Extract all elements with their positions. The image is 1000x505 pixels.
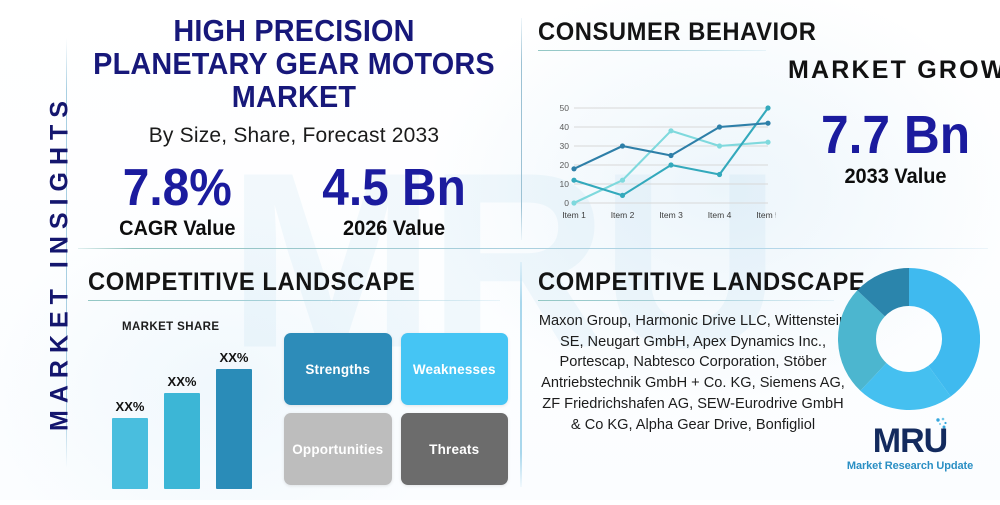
logo-dots-icon xyxy=(933,417,949,435)
kpi-2026-label: 2026 Value xyxy=(319,217,467,241)
divider-vertical-top xyxy=(521,18,522,240)
page-title: HIGH PRECISION PLANETARY GEAR MOTORS MAR… xyxy=(93,14,495,113)
svg-text:0: 0 xyxy=(564,198,569,208)
mru-logo-text: MRU xyxy=(873,424,947,458)
bar-item: XX% xyxy=(112,418,148,490)
market-insights-label: MARKET INSIGHTS xyxy=(46,58,75,468)
svg-text:Item 4: Item 4 xyxy=(708,210,732,220)
infographic-page: MRU MARKET INSIGHTS HIGH PRECISION PLANE… xyxy=(0,0,1000,500)
donut-segment xyxy=(857,303,873,377)
donut-segment xyxy=(909,287,961,381)
mru-logo-tagline: Market Research Update xyxy=(846,460,974,472)
svg-text:20: 20 xyxy=(560,160,570,170)
consumer-behavior-heading: CONSUMER BEHAVIOR xyxy=(538,18,967,47)
competitive-landscape-left-section: COMPETITIVE LANDSCAPE MARKET SHARE XX%XX… xyxy=(88,268,508,505)
kpi-2033-value: 7.7 Bn xyxy=(801,108,990,162)
line-chart-svg: 01020304050Item 1Item 2Item 3Item 4Item … xyxy=(548,100,776,225)
market-share-donut-chart xyxy=(838,268,980,415)
svg-text:30: 30 xyxy=(560,141,570,151)
swot-grid: StrengthsWeaknessesOpportunitiesThreats xyxy=(284,333,508,485)
svg-text:10: 10 xyxy=(560,179,570,189)
kpi-2026: 4.5 Bn 2026 Value xyxy=(316,162,472,241)
divider-vertical-bottom xyxy=(520,262,522,487)
bar-value-label: XX% xyxy=(168,374,197,389)
donut-chart-svg xyxy=(838,268,980,410)
swot-card-strengths[interactable]: Strengths xyxy=(284,333,392,405)
bar-item: XX% xyxy=(164,393,200,489)
company-list: Maxon Group, Harmonic Drive LLC, Wittens… xyxy=(538,311,848,435)
competitive-left-body: MARKET SHARE XX%XX%XX% StrengthsWeakness… xyxy=(88,315,508,505)
kpi-2033: 7.7 Bn 2033 Value xyxy=(793,108,998,189)
bar-value-label: XX% xyxy=(220,350,249,365)
bar xyxy=(112,418,148,490)
bar xyxy=(164,393,200,489)
svg-text:Item 1: Item 1 xyxy=(562,210,586,220)
consumer-behavior-line-chart: 01020304050Item 1Item 2Item 3Item 4Item … xyxy=(548,100,776,225)
heading-rule xyxy=(538,300,834,301)
bar-value-label: XX% xyxy=(116,399,145,414)
page-subtitle: By Size, Share, Forecast 2033 xyxy=(78,124,510,148)
kpi-cagr: 7.8% CAGR Value xyxy=(116,162,239,241)
donut-segment xyxy=(873,377,939,391)
bar-item: XX% xyxy=(216,369,252,489)
kpi-2026-value: 4.5 Bn xyxy=(322,162,466,214)
donut-segment xyxy=(871,287,909,303)
svg-text:Item 3: Item 3 xyxy=(659,210,683,220)
competitive-right-heading: COMPETITIVE LANDSCAPE xyxy=(538,268,833,297)
svg-text:40: 40 xyxy=(560,122,570,132)
swot-card-opportunities[interactable]: Opportunities xyxy=(284,413,392,485)
market-share-label: MARKET SHARE xyxy=(122,321,219,333)
svg-text:50: 50 xyxy=(560,103,570,113)
competitive-left-heading: COMPETITIVE LANDSCAPE xyxy=(88,268,487,297)
heading-rule xyxy=(88,300,500,301)
heading-rule xyxy=(538,50,766,51)
kpi-2033-label: 2033 Value xyxy=(798,165,993,189)
header-kpi-row: 7.8% CAGR Value 4.5 Bn 2026 Value xyxy=(78,162,510,241)
consumer-behavior-section: CONSUMER BEHAVIOR MARKET GROWTH 7.7 Bn 2… xyxy=(538,18,990,51)
kpi-cagr-label: CAGR Value xyxy=(119,217,235,241)
kpi-cagr-value: 7.8% xyxy=(121,162,234,214)
divider-horizontal xyxy=(78,248,988,249)
svg-text:Item 5: Item 5 xyxy=(756,210,776,220)
competitive-landscape-right-section: COMPETITIVE LANDSCAPE Maxon Group, Harmo… xyxy=(538,268,848,435)
market-growth-heading: MARKET GROWTH xyxy=(788,56,998,85)
mru-logo[interactable]: MRU Market Research Update xyxy=(846,424,974,472)
header-block: HIGH PRECISION PLANETARY GEAR MOTORS MAR… xyxy=(78,14,510,241)
svg-text:Item 2: Item 2 xyxy=(611,210,635,220)
bar xyxy=(216,369,252,489)
swot-card-weaknesses[interactable]: Weaknesses xyxy=(401,333,509,405)
swot-card-threats[interactable]: Threats xyxy=(401,413,509,485)
market-share-bar-chart: XX%XX%XX% xyxy=(106,339,276,489)
